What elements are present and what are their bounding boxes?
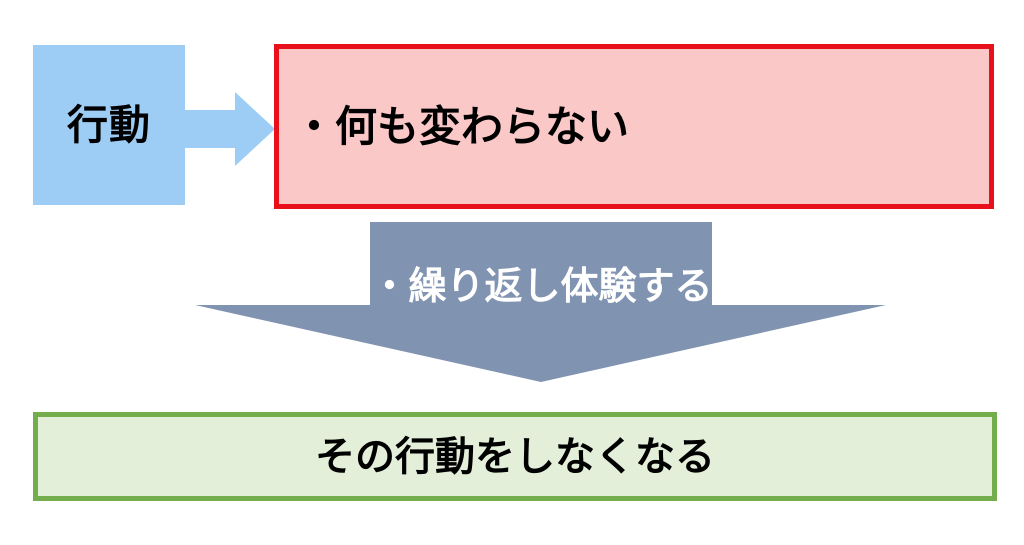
outcome-box: ・何も変わらない — [274, 44, 994, 209]
diagram-canvas: 行動 ・何も変わらない ・繰り返し体験する その行動をしなくなる — [0, 0, 1024, 545]
outcome-box-label: ・何も変わらない — [279, 106, 629, 148]
arrow-right-icon — [183, 90, 275, 168]
process-arrow-label: ・繰り返し体験する — [370, 268, 713, 306]
source-box: 行動 — [33, 45, 185, 205]
arrow-right-shape — [183, 90, 275, 168]
result-box-label: その行動をしなくなる — [315, 437, 715, 477]
source-box-label: 行動 — [67, 105, 151, 146]
result-box: その行動をしなくなる — [33, 412, 997, 501]
